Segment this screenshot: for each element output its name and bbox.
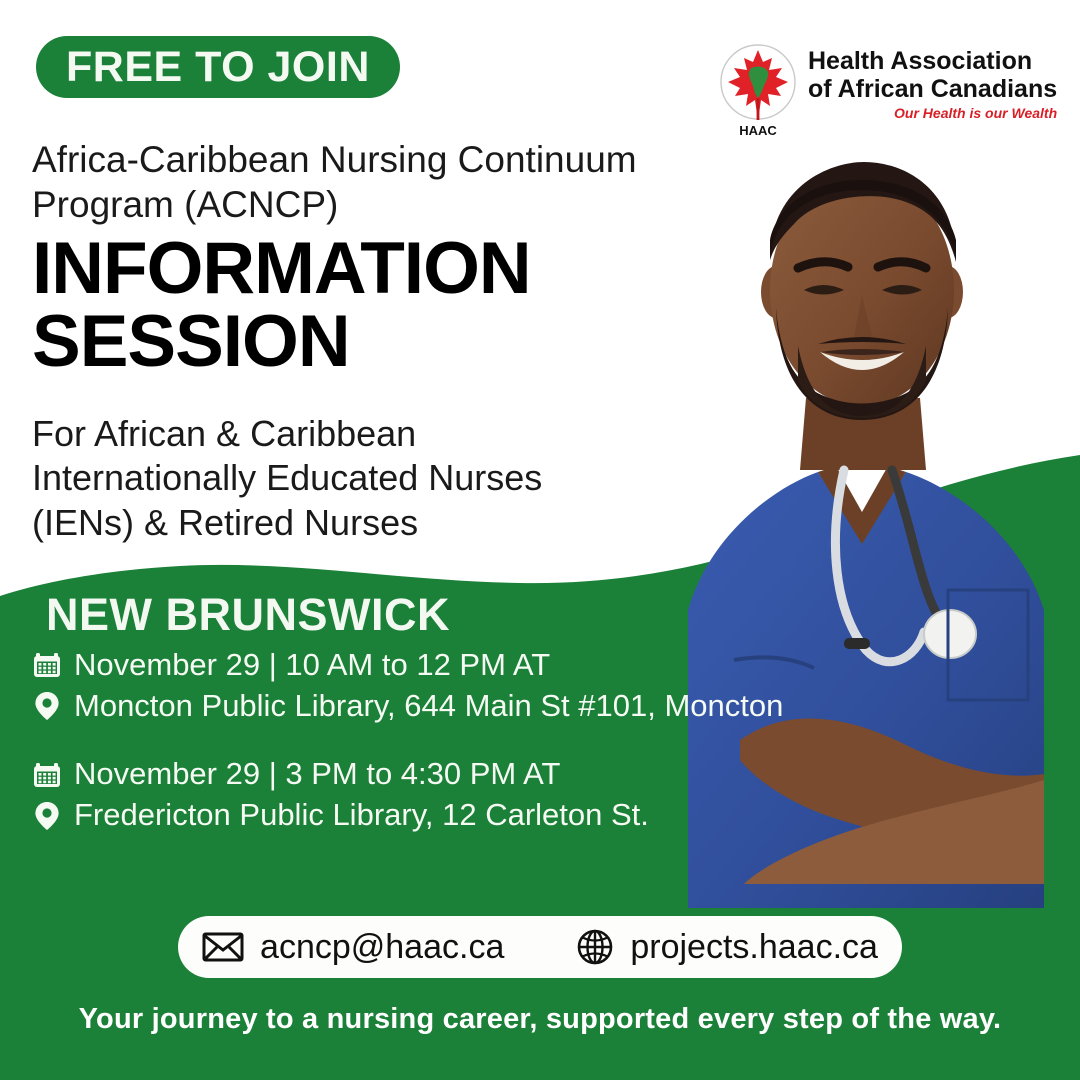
events-list: November 29 | 10 AM to 12 PM AT Moncton … — [32, 648, 692, 867]
globe-icon — [576, 928, 614, 966]
headline-line-2: SESSION — [32, 305, 672, 378]
contact-website[interactable]: projects.haac.ca — [576, 928, 878, 966]
nurse-photo — [648, 140, 1080, 908]
audience-description: For African & Caribbean Internationally … — [32, 412, 632, 545]
audience-line-3: (IENs) & Retired Nurses — [32, 501, 632, 545]
free-to-join-badge: FREE TO JOIN — [36, 36, 400, 98]
svg-text:HAAC: HAAC — [739, 123, 777, 138]
haac-logo-tagline: Our Health is our Wealth — [808, 105, 1057, 121]
event-venue-row: Moncton Public Library, 644 Main St #101… — [32, 689, 692, 724]
map-pin-icon — [32, 690, 74, 722]
email-text: acncp@haac.ca — [260, 930, 504, 964]
event-date-text: November 29 | 3 PM to 4:30 PM AT — [74, 757, 560, 792]
badge-label: FREE TO JOIN — [66, 46, 370, 89]
haac-logo-line1: Health Association — [808, 47, 1057, 75]
poster-root: FREE TO JOIN HAAC Health Association of … — [0, 0, 1080, 1080]
haac-maple-leaf-africa-logo-icon: HAAC — [718, 40, 798, 140]
event-item-1: November 29 | 3 PM to 4:30 PM AT Frederi… — [32, 757, 692, 832]
haac-logo-text: Health Association of African Canadians … — [808, 40, 1057, 121]
calendar-icon — [32, 650, 74, 680]
headline-line-1: INFORMATION — [32, 232, 672, 305]
website-text: projects.haac.ca — [630, 930, 878, 964]
page-title: INFORMATION SESSION — [32, 232, 672, 378]
event-item-0: November 29 | 10 AM to 12 PM AT Moncton … — [32, 648, 692, 723]
footer-tagline: Your journey to a nursing career, suppor… — [0, 1005, 1080, 1034]
haac-logo: HAAC Health Association of African Canad… — [718, 40, 1057, 140]
map-pin-icon — [32, 800, 74, 832]
contact-email[interactable]: acncp@haac.ca — [202, 930, 504, 964]
event-date-row: November 29 | 3 PM to 4:30 PM AT — [32, 757, 692, 792]
audience-line-2: Internationally Educated Nurses — [32, 456, 632, 500]
haac-logo-line2: of African Canadians — [808, 75, 1057, 103]
contact-bar: acncp@haac.ca projects.haac.ca — [178, 916, 902, 978]
event-venue-text: Moncton Public Library, 644 Main St #101… — [74, 689, 783, 724]
envelope-icon — [202, 931, 244, 963]
program-name: Africa-Caribbean Nursing Continuum Progr… — [32, 137, 672, 227]
audience-line-1: For African & Caribbean — [32, 412, 632, 456]
province-heading: NEW BRUNSWICK — [46, 592, 450, 637]
event-venue-text: Fredericton Public Library, 12 Carleton … — [74, 798, 649, 833]
event-date-row: November 29 | 10 AM to 12 PM AT — [32, 648, 692, 683]
event-venue-row: Fredericton Public Library, 12 Carleton … — [32, 798, 692, 833]
calendar-icon — [32, 760, 74, 790]
event-date-text: November 29 | 10 AM to 12 PM AT — [74, 648, 550, 683]
